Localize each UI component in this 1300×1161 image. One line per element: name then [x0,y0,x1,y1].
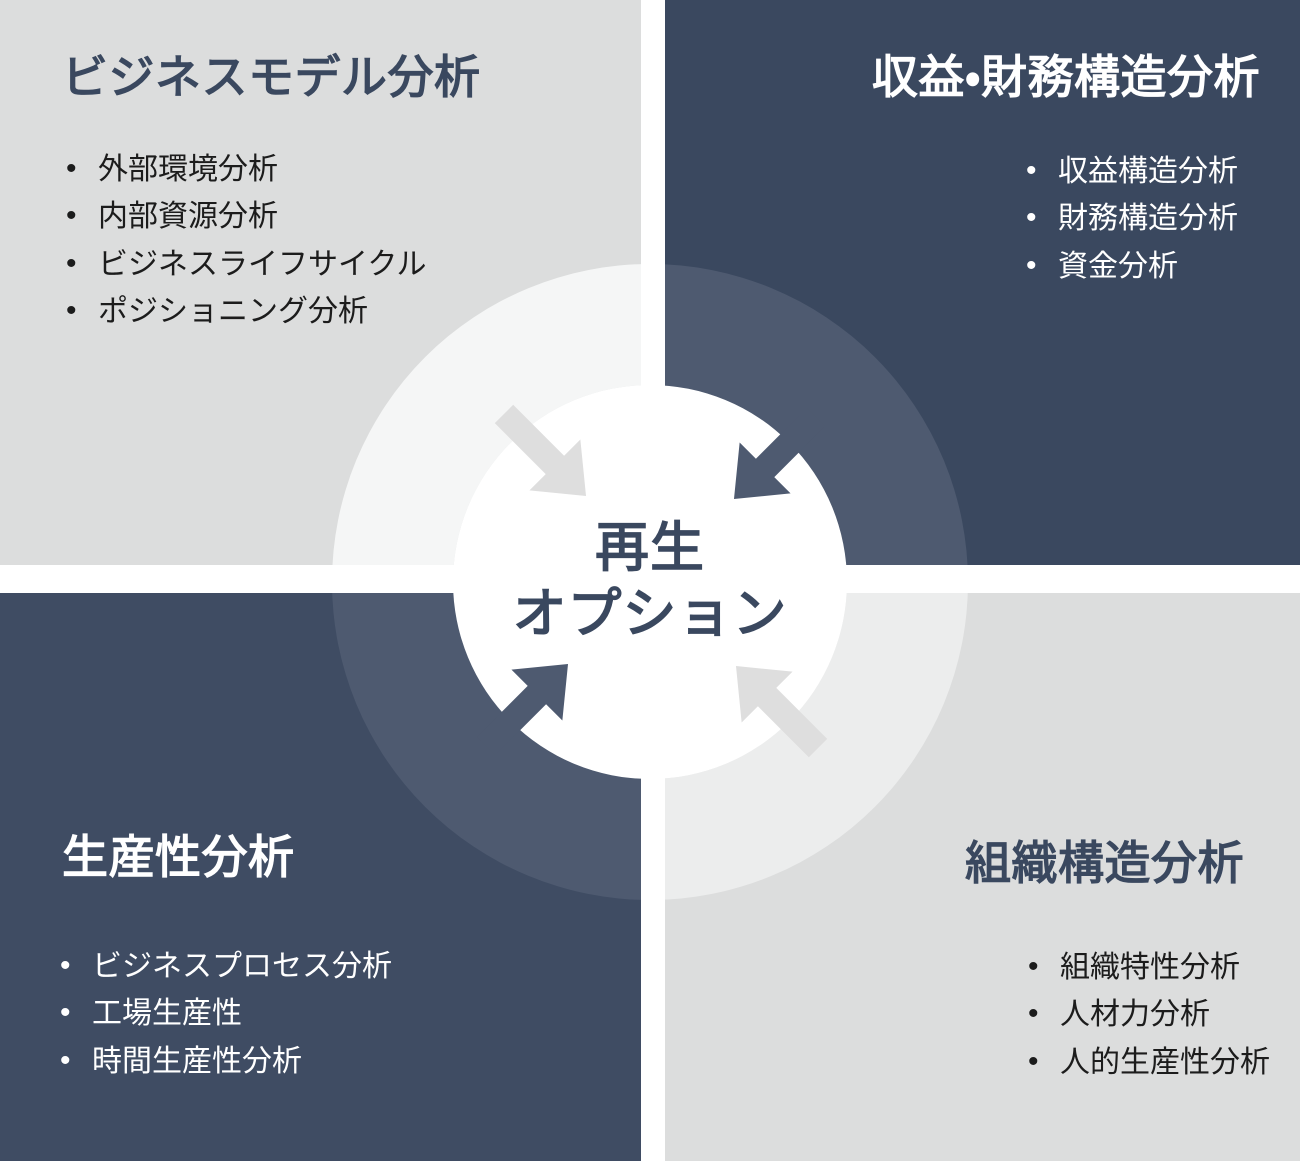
list-item: ポジショニング分析 [62,288,427,335]
list-item: 人材力分析 [1024,991,1270,1038]
quadrant-list-top-left: 外部環境分析 内部資源分析 ビジネスライフサイクル ポジショニング分析 [62,146,427,336]
list-item: 収益構造分析 [1022,148,1238,195]
quadrant-list-bottom-left: ビジネスプロセス分析 工場生産性 時間生産性分析 [56,943,392,1085]
list-item: 資金分析 [1022,243,1238,290]
list-item: 外部環境分析 [62,146,427,193]
list-item: 財務構造分析 [1022,195,1238,242]
list-item: 時間生産性分析 [56,1038,392,1085]
quadrant-list-top-right: 収益構造分析 財務構造分析 資金分析 [1022,148,1238,290]
quadrant-title-top-left: ビジネスモデル分析 [62,52,481,103]
quadrant-title-bottom-left: 生産性分析 [62,832,295,883]
list-item: ビジネスライフサイクル [62,241,427,288]
quadrant-title-bottom-right: 組織構造分析 [965,838,1244,889]
list-item: ビジネスプロセス分析 [56,943,392,990]
slide-canvas: 再生 オプション ビジネスモデル分析 外部環境分析 内部資源分析 ビジネスライフ… [0,0,1300,1161]
list-item: 工場生産性 [56,990,392,1037]
list-item: 組織特性分析 [1024,944,1270,991]
list-item: 内部資源分析 [62,193,427,240]
quadrant-list-bottom-right: 組織特性分析 人材力分析 人的生産性分析 [1024,944,1270,1086]
quadrant-title-top-right: 収益・財務構造分析 [872,52,1260,103]
list-item: 人的生産性分析 [1024,1039,1270,1086]
